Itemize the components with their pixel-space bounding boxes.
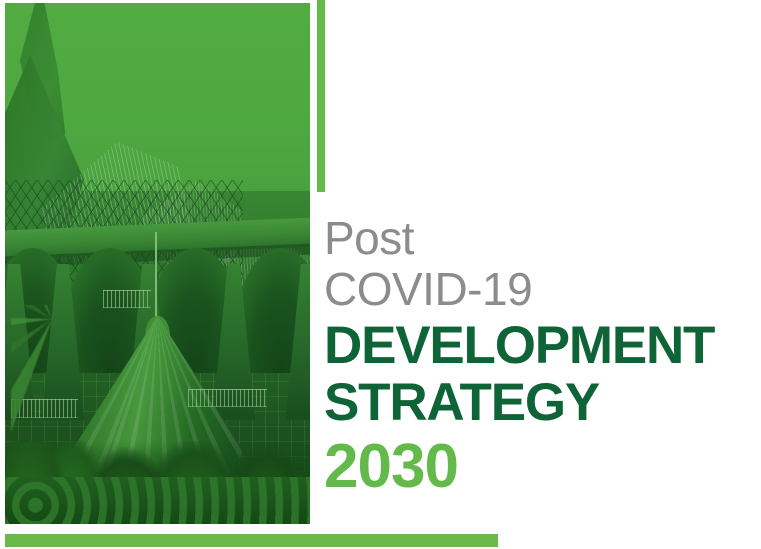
photo-railing bbox=[103, 290, 152, 309]
title-pre-line-2: COVID-19 bbox=[324, 264, 754, 314]
photo-railing bbox=[188, 389, 267, 408]
cover-photo-artwork bbox=[5, 3, 310, 524]
cover-page: Post COVID-19 DEVELOPMENT STRATEGY 2030 bbox=[0, 0, 761, 549]
photo-shrub-row bbox=[5, 477, 310, 524]
title-main-line-1: DEVELOPMENT bbox=[324, 318, 754, 374]
photo-finial-mast bbox=[155, 232, 157, 326]
photo-palm-tree bbox=[11, 305, 90, 482]
cover-photo bbox=[5, 3, 310, 524]
title-block: Post COVID-19 DEVELOPMENT STRATEGY 2030 bbox=[324, 214, 754, 500]
vertical-accent-bar bbox=[317, 0, 325, 192]
bottom-accent-rule bbox=[5, 534, 498, 547]
title-year: 2030 bbox=[324, 434, 754, 500]
title-pre-line-1: Post bbox=[324, 214, 754, 262]
title-main-line-2: STRATEGY bbox=[324, 374, 754, 432]
